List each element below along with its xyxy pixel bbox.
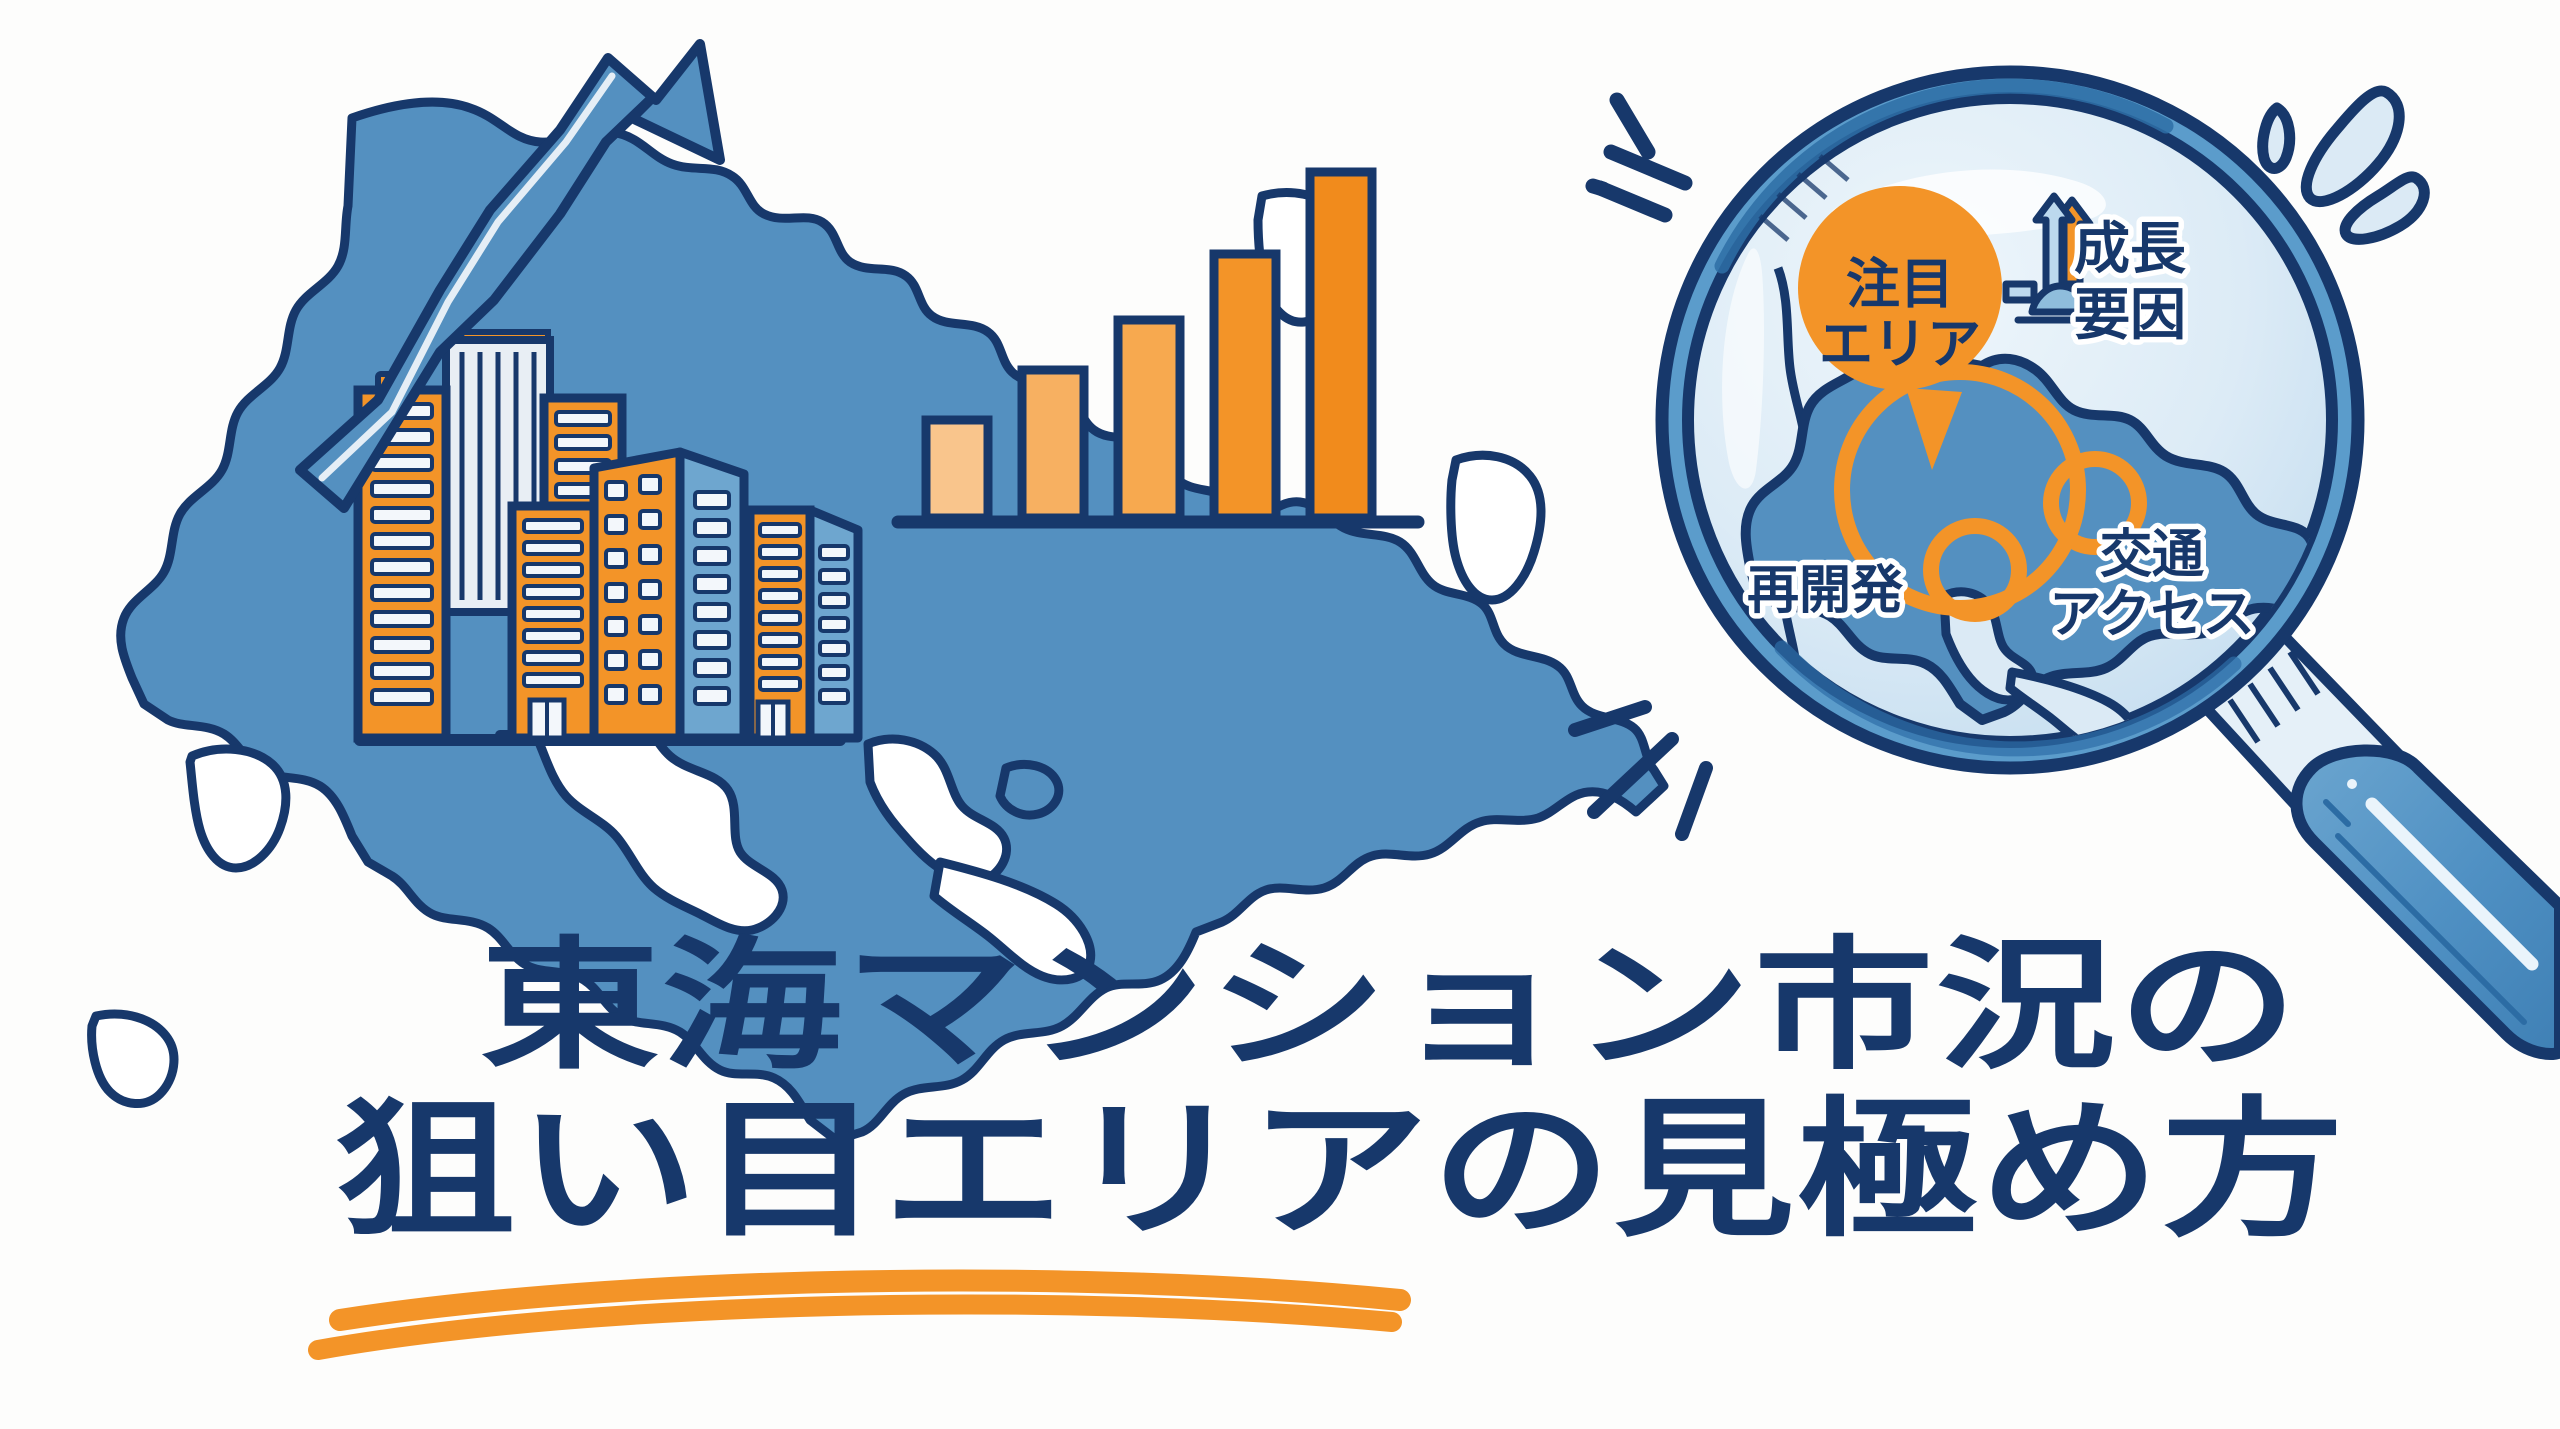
redevelopment-label: 再開発 (1747, 561, 1904, 621)
focus-area-bubble-line2: エリア (1819, 313, 1981, 376)
infographic-canvas: 注目 エリア 成長 成長 要因 要因 再開発 再開発 交通 交通 アクセス アク… (0, 0, 2560, 1429)
growth-factor-label-line1: 成長 (2074, 217, 2186, 282)
growth-factor-label-line2: 要因 (2074, 283, 2186, 348)
text-layer: 注目 エリア 成長 成長 要因 要因 再開発 再開発 交通 交通 アクセス アク… (0, 0, 2560, 1429)
focus-area-bubble-line1: 注目 (1846, 253, 1954, 316)
transport-access-label-line1: 交通 (2100, 525, 2205, 585)
title-underline-swoosh (318, 1281, 1400, 1350)
title-line-1: 東海マンション市況の (480, 924, 2300, 1089)
title-line-2: 狙い目エリアの見極め方 (335, 1084, 2345, 1258)
transport-access-label-line2: アクセス (2049, 585, 2254, 645)
